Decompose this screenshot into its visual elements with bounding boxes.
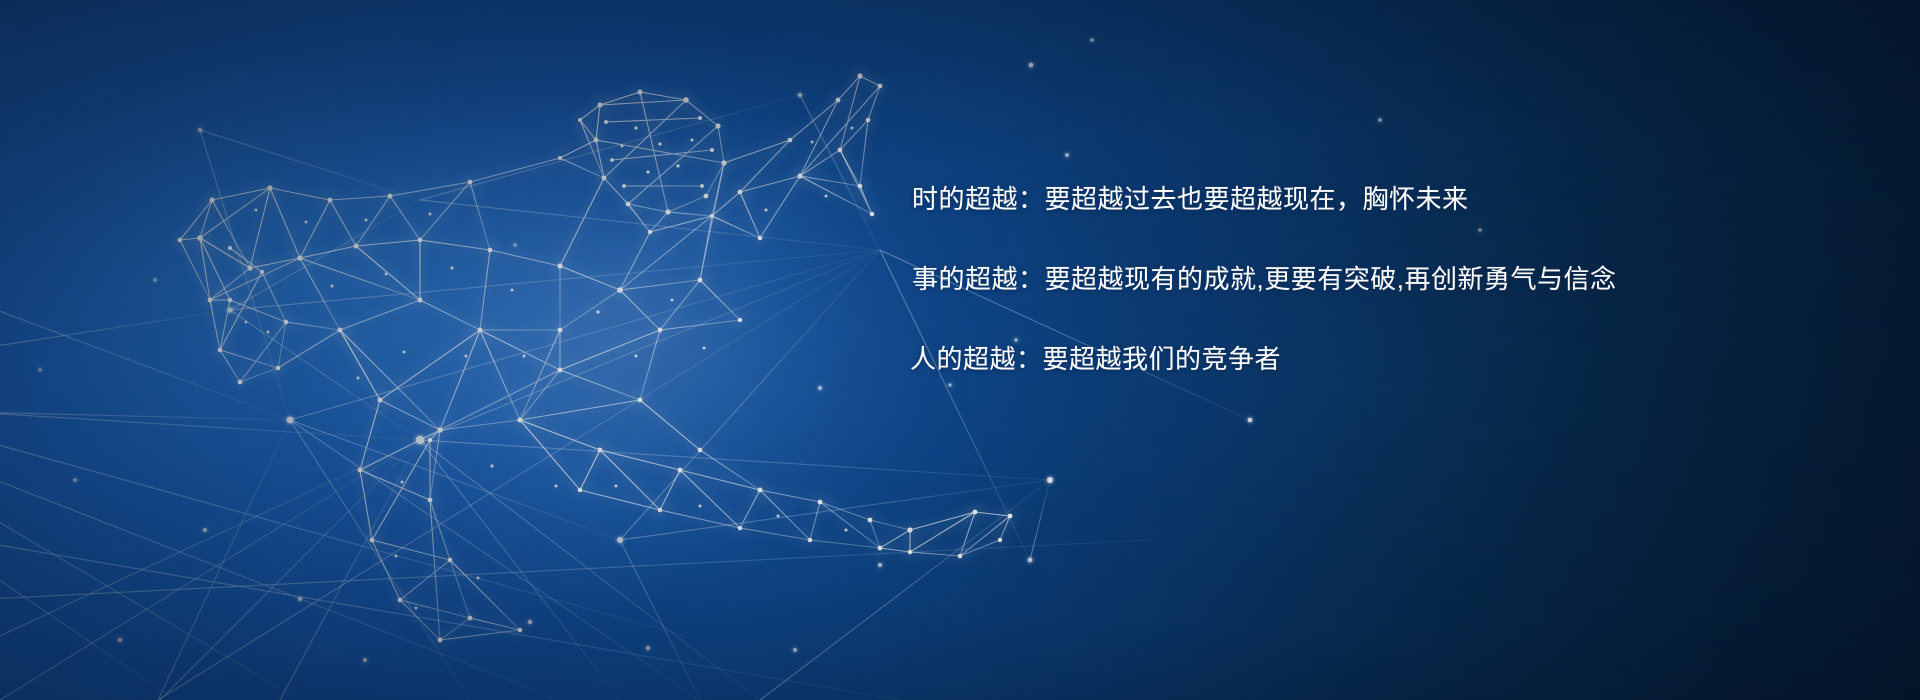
- slogan-text-block: 时的超越：要超越过去也要超越现在，胸怀未来 事的超越：要超越现有的成就,更要有突…: [910, 186, 1810, 372]
- slogan-line-time: 时的超越：要超越过去也要超越现在，胸怀未来: [912, 186, 1810, 212]
- banner-root: 时的超越：要超越过去也要超越现在，胸怀未来 事的超越：要超越现有的成就,更要有突…: [0, 0, 1920, 700]
- slogan-line-people: 人的超越：要超越我们的竞争者: [910, 346, 1810, 372]
- slogan-line-achievement: 事的超越：要超越现有的成就,更要有突破,再创新勇气与信念: [912, 266, 1810, 292]
